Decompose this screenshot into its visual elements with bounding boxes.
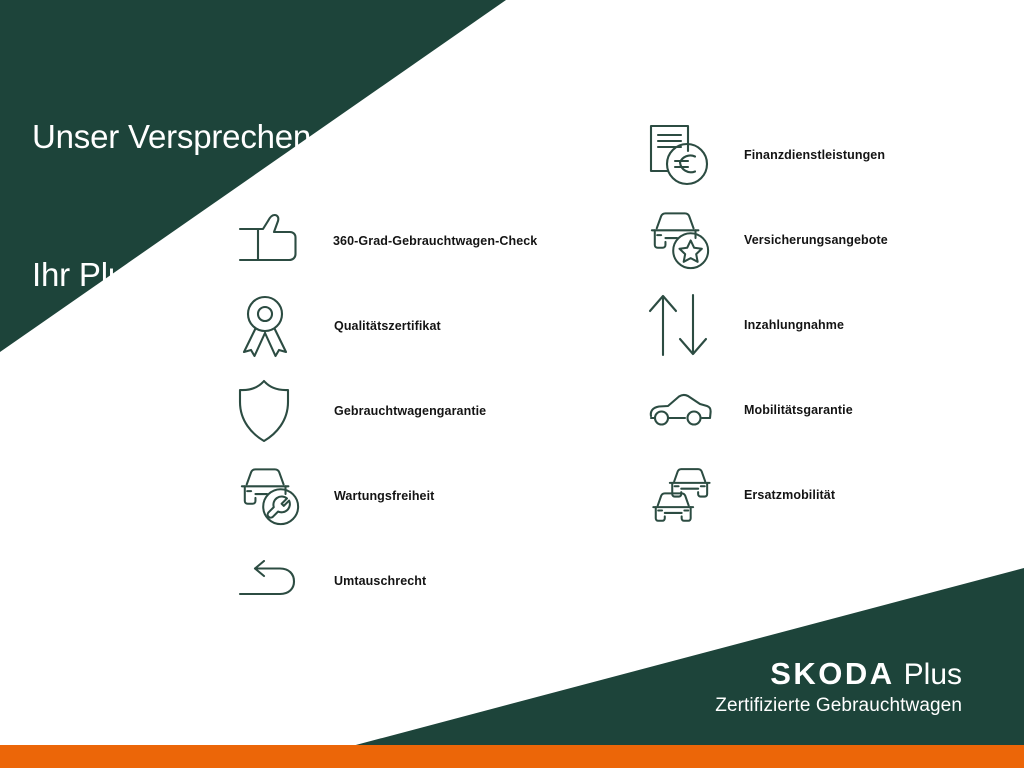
feature-item: Umtauschrecht (238, 546, 598, 616)
thumbs-up-icon (238, 209, 302, 273)
feature-item: Inzahlungnahme (648, 290, 1008, 360)
feature-item: Gebrauchtwagengarantie (238, 376, 598, 446)
feature-list-left: 360-Grad-Gebrauchtwagen-Check Qualitätsz… (238, 206, 598, 631)
feature-item: Mobilitätsgarantie (648, 375, 1008, 445)
feature-label: Qualitätszertifikat (334, 319, 441, 333)
orange-accent-bar (0, 745, 1024, 768)
headline-line-1: Unser Versprechen. (32, 114, 320, 160)
brand-lockup: SKODAPlus Zertifizierte Gebrauchtwagen (715, 657, 962, 719)
feature-label: Umtauschrecht (334, 574, 426, 588)
two-cars-icon (648, 463, 712, 527)
skoda-wordmark: SKODA (770, 656, 894, 691)
feature-item: Finanzdienstleistungen (648, 120, 1008, 190)
feature-label: Versicherungsangebote (744, 233, 888, 247)
feature-item: Ersatzmobilität (648, 460, 1008, 530)
feature-label: Inzahlungnahme (744, 318, 844, 332)
feature-label: 360-Grad-Gebrauchtwagen-Check (333, 234, 537, 248)
feature-label: Wartungsfreiheit (334, 489, 434, 503)
feature-list-right: Finanzdienstleistungen Versicherungsange… (648, 120, 1008, 545)
feature-item: Versicherungsangebote (648, 205, 1008, 275)
feature-label: Mobilitätsgarantie (744, 403, 853, 417)
document-euro-icon (648, 123, 712, 187)
feature-label: Finanzdienstleistungen (744, 148, 885, 162)
brand-subtitle: Zertifizierte Gebrauchtwagen (715, 693, 962, 719)
shield-icon (238, 379, 302, 443)
brand-title-row: SKODAPlus (715, 657, 962, 692)
up-down-arrows-icon (648, 293, 712, 357)
car-star-icon (648, 208, 712, 272)
car-side-icon (648, 378, 712, 442)
car-wrench-icon (238, 464, 302, 528)
promo-banner: Unser Versprechen. Ihr Plus. 360-Grad-Ge… (0, 0, 1024, 768)
feature-item: 360-Grad-Gebrauchtwagen-Check (238, 206, 598, 276)
feature-label: Ersatzmobilität (744, 488, 835, 502)
award-rosette-icon (238, 294, 302, 358)
brand-plus-label: Plus (904, 658, 962, 691)
feature-label: Gebrauchtwagengarantie (334, 404, 486, 418)
return-arrow-icon (238, 549, 302, 613)
feature-item: Qualitätszertifikat (238, 291, 598, 361)
feature-item: Wartungsfreiheit (238, 461, 598, 531)
